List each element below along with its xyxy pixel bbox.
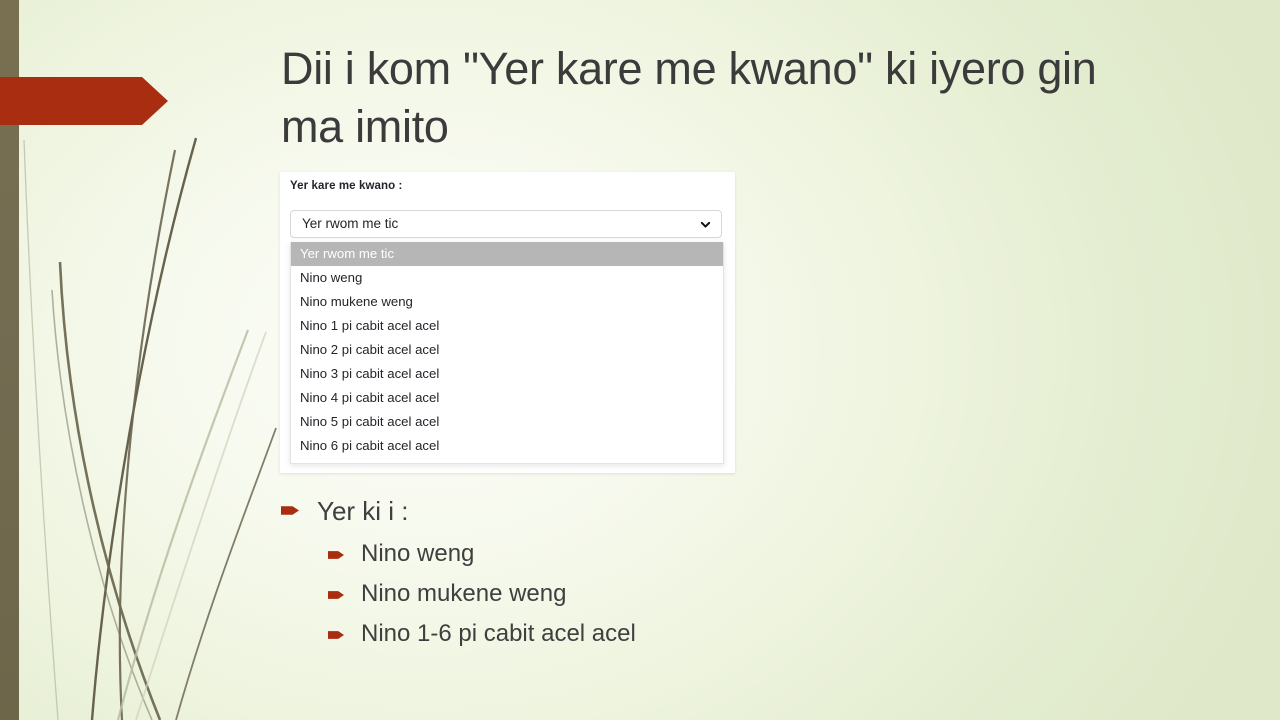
form-card: Yer kare me kwano : Yer rwom me tic Yer … xyxy=(280,172,735,473)
slide-canvas: Dii i kom "Yer kare me kwano" ki iyero g… xyxy=(0,0,1280,720)
arrow-bullet-icon xyxy=(328,550,344,560)
dropdown-option[interactable]: Nino 5 pi cabit acel acel xyxy=(291,410,723,434)
period-select-value: Yer rwom me tic xyxy=(302,216,398,231)
dropdown-option[interactable]: Nino 2 pi cabit acel acel xyxy=(291,338,723,362)
dropdown-option[interactable]: Nino 3 pi cabit acel acel xyxy=(291,362,723,386)
dropdown-option[interactable]: Nino 4 pi cabit acel acel xyxy=(291,386,723,410)
bullet-item: Nino 1-6 pi cabit acel acel xyxy=(328,618,1041,650)
period-select[interactable]: Yer rwom me tic xyxy=(290,210,722,238)
chevron-down-icon xyxy=(699,218,712,231)
page-title: Dii i kom "Yer kare me kwano" ki iyero g… xyxy=(281,40,1161,156)
bullet-text: Nino 1-6 pi cabit acel acel xyxy=(361,618,636,650)
bullet-item: Yer ki i : xyxy=(281,494,1041,528)
bullet-item: Nino mukene weng xyxy=(328,578,1041,610)
arrow-bullet-icon xyxy=(328,630,344,640)
period-select-label: Yer kare me kwano : xyxy=(290,180,403,192)
dropdown-option[interactable]: Yer rwom me tic xyxy=(291,242,723,266)
dropdown-option[interactable]: Nino 1 pi cabit acel acel xyxy=(291,314,723,338)
bullet-item: Nino weng xyxy=(328,538,1041,570)
bullet-text: Yer ki i : xyxy=(317,494,409,528)
bullet-text: Nino weng xyxy=(361,538,474,570)
dropdown-option[interactable]: Nino 6 pi cabit acel acel xyxy=(291,434,723,458)
period-select-dropdown[interactable]: Yer rwom me ticNino wengNino mukene weng… xyxy=(290,242,724,464)
dropdown-option[interactable]: Nino weng xyxy=(291,266,723,290)
bullet-text: Nino mukene weng xyxy=(361,578,566,610)
bullet-list: Yer ki i :Nino wengNino mukene wengNino … xyxy=(281,494,1041,658)
arrow-bullet-icon xyxy=(281,505,299,516)
dropdown-option[interactable]: Nino mukene weng xyxy=(291,290,723,314)
arrow-banner-decoration xyxy=(0,77,168,125)
arrow-bullet-icon xyxy=(328,590,344,600)
